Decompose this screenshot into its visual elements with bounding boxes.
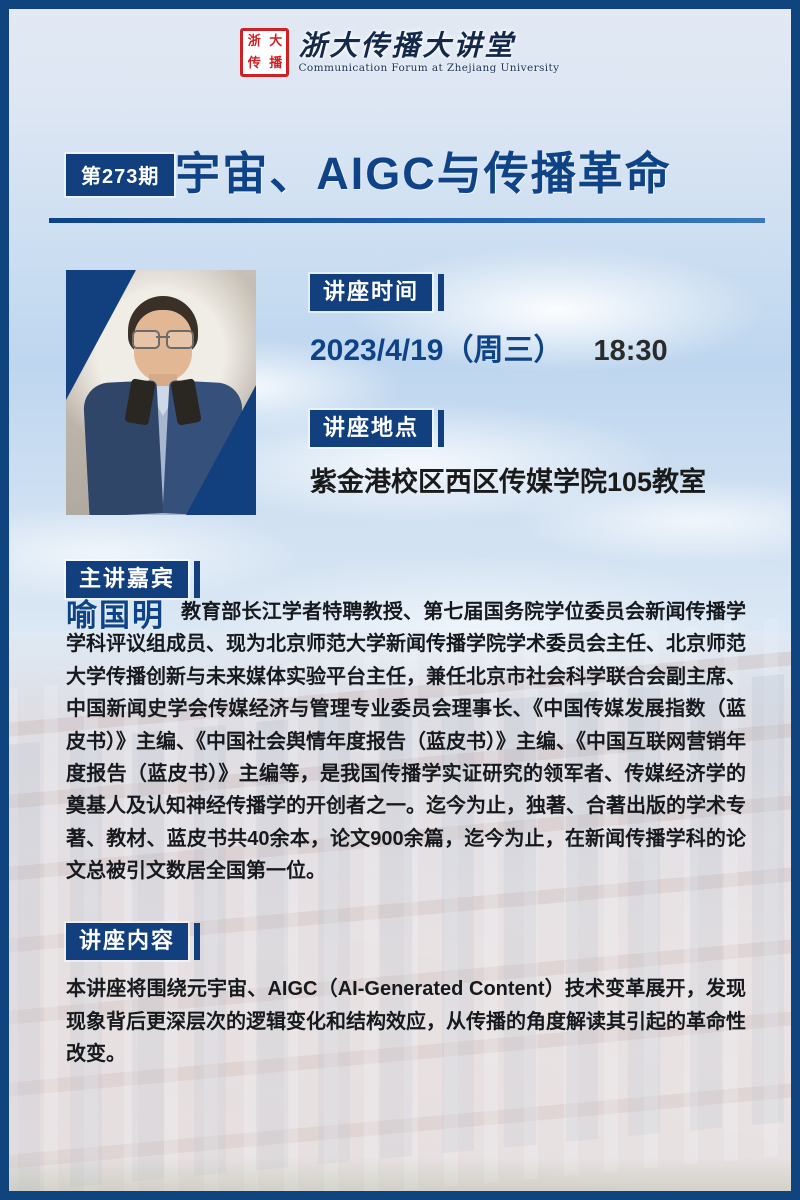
guest-name: 喻国明 bbox=[66, 600, 165, 631]
lecture-time-value: 2023/4/19（周三） 18:30 bbox=[310, 325, 706, 369]
title-divider bbox=[49, 218, 765, 223]
wordmark: 浙大传播大讲堂 Communication Forum at Zhejiang … bbox=[298, 31, 559, 73]
lecture-poster: 浙 大 传 播 浙大传播大讲堂 Communication Forum at Z… bbox=[0, 0, 800, 1200]
content-body: 本讲座将围绕元宇宙、AIGC（AI-Generated Content）技术变革… bbox=[66, 973, 746, 1070]
lecture-place-label: 讲座地点 bbox=[310, 410, 444, 447]
lecture-clock: 18:30 bbox=[593, 335, 667, 368]
content-label-text: 讲座内容 bbox=[66, 923, 188, 960]
label-tick-mark bbox=[194, 923, 200, 960]
wordmark-english: Communication Forum at Zhejiang Universi… bbox=[298, 62, 559, 74]
event-meta: 讲座时间 2023/4/19（周三） 18:30 讲座地点 紫金港校区西区传媒学… bbox=[256, 270, 706, 515]
seal-char-1: 浙 bbox=[243, 31, 265, 53]
lecture-place-value: 紫金港校区西区传媒学院105教室 bbox=[310, 460, 706, 499]
guest-biography: 喻国明教育部长江学者特聘教授、第七届国务院学位委员会新闻传播学学科评议组成员、现… bbox=[66, 596, 746, 888]
info-block: 讲座时间 2023/4/19（周三） 18:30 讲座地点 紫金港校区西区传媒学… bbox=[9, 270, 791, 515]
issue-number-badge: 第273期 bbox=[66, 154, 174, 196]
guest-section: 主讲嘉宾 喻国明 喻国明教育部长江学者特聘教授、第七届国务院学位委员会新闻传播学… bbox=[9, 561, 791, 887]
seal-char-2: 大 bbox=[265, 31, 287, 53]
lecture-date: 2023/4/19（周三） bbox=[310, 325, 563, 369]
seal-char-3: 传 bbox=[243, 53, 265, 75]
content-section: 讲座内容 本讲座将围绕元宇宙、AIGC（AI-Generated Content… bbox=[9, 923, 791, 1070]
masthead: 浙 大 传 播 浙大传播大讲堂 Communication Forum at Z… bbox=[9, 9, 791, 77]
label-tick-mark bbox=[438, 274, 444, 311]
label-tick-mark bbox=[194, 561, 200, 598]
lecture-place-label-text: 讲座地点 bbox=[310, 410, 432, 447]
university-seal-icon: 浙 大 传 播 bbox=[240, 28, 289, 77]
guest-label: 主讲嘉宾 bbox=[66, 561, 200, 598]
content-label: 讲座内容 bbox=[66, 923, 200, 960]
glasses-bridge bbox=[156, 336, 170, 338]
label-tick-mark bbox=[438, 410, 444, 447]
speaker-photo-frame bbox=[66, 270, 256, 515]
seal-char-4: 播 bbox=[265, 53, 287, 75]
guest-label-text: 主讲嘉宾 bbox=[66, 561, 188, 598]
lecture-time-label-text: 讲座时间 bbox=[310, 274, 432, 311]
lecture-time-label: 讲座时间 bbox=[310, 274, 444, 311]
wordmark-chinese: 浙大传播大讲堂 bbox=[298, 31, 515, 60]
